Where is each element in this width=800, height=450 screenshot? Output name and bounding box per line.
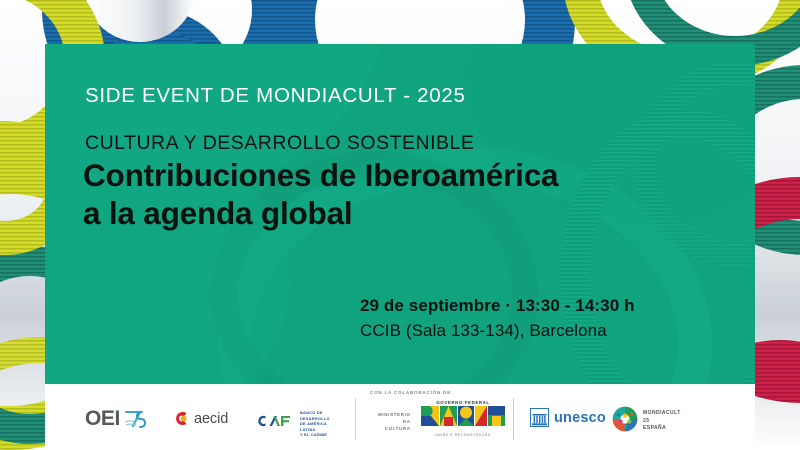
brasil-blocks-icon (420, 405, 506, 432)
main-panel: SIDE EVENT DE MONDIACULT - 2025 CULTURA … (45, 44, 755, 384)
logo-governo-federal-brasil: GOVERNO FEDERAL (420, 400, 506, 437)
mondiacult-globe-icon (612, 406, 638, 437)
event-date-time: 29 de septiembre · 13:30 - 14:30 h (360, 296, 635, 316)
event-poster: SIDE EVENT DE MONDIACULT - 2025 CULTURA … (0, 0, 800, 450)
caf-tagline: BANCO DE DESARROLLO DE AMÉRICA LATINA Y … (300, 410, 330, 438)
sponsor-footer: CON LA COLABORACIÓN DE: OEI (45, 384, 755, 450)
logo-unesco: unesco (530, 408, 606, 427)
ministerio-line-1: MINISTÉRIO DA (378, 411, 411, 425)
event-kicker: CULTURA Y DESARROLLO SOSTENIBLE (85, 132, 474, 155)
caf-tagline-line-1: BANCO DE DESARROLLO (300, 410, 330, 421)
event-details: 29 de septiembre · 13:30 - 14:30 h CCIB … (360, 296, 635, 341)
footer-divider-2 (513, 398, 514, 440)
logo-ministerio-cultura: MINISTÉRIO DA CULTURA (378, 411, 411, 432)
unesco-wordmark: unesco (554, 410, 606, 426)
ministerio-line-2: CULTURA (378, 425, 411, 432)
aecid-emblem-icon (173, 410, 190, 427)
brasil-bottom-label: UNIÃO E RECONSTRUÇÃO (420, 433, 506, 437)
event-venue: CCIB (Sala 133-134), Barcelona (360, 321, 635, 341)
oei-wordmark: OEI (85, 407, 120, 431)
mondiacult-line-2: ESPAÑA (643, 425, 681, 433)
headline-line-2: a la agenda global (83, 194, 558, 232)
event-eyebrow: SIDE EVENT DE MONDIACULT - 2025 (85, 84, 466, 108)
collaboration-label: CON LA COLABORACIÓN DE: (370, 390, 453, 395)
logo-aecid: aecid (173, 410, 228, 427)
footer-divider-1 (355, 398, 356, 440)
logo-oei: OEI (85, 407, 146, 431)
aecid-wordmark: aecid (194, 411, 228, 427)
page-title: Contribuciones de Iberoamérica a la agen… (83, 156, 558, 233)
logo-mondiacult: MONDIACULT 25 ESPAÑA (612, 406, 681, 437)
unesco-temple-icon (530, 408, 549, 427)
caf-tagline-line-2: DE AMÉRICA LATINA (300, 421, 330, 432)
oei-75-anniversary-icon (124, 409, 146, 429)
caf-wordmark-icon (256, 413, 296, 434)
mondiacult-line-1: MONDIACULT 25 (643, 410, 681, 426)
headline-line-1: Contribuciones de Iberoamérica (83, 156, 558, 194)
mondiacult-wordmark: MONDIACULT 25 ESPAÑA (643, 410, 681, 433)
caf-tagline-line-3: Y EL CARIBE (300, 432, 330, 438)
logo-caf: BANCO DE DESARROLLO DE AMÉRICA LATINA Y … (256, 410, 330, 438)
